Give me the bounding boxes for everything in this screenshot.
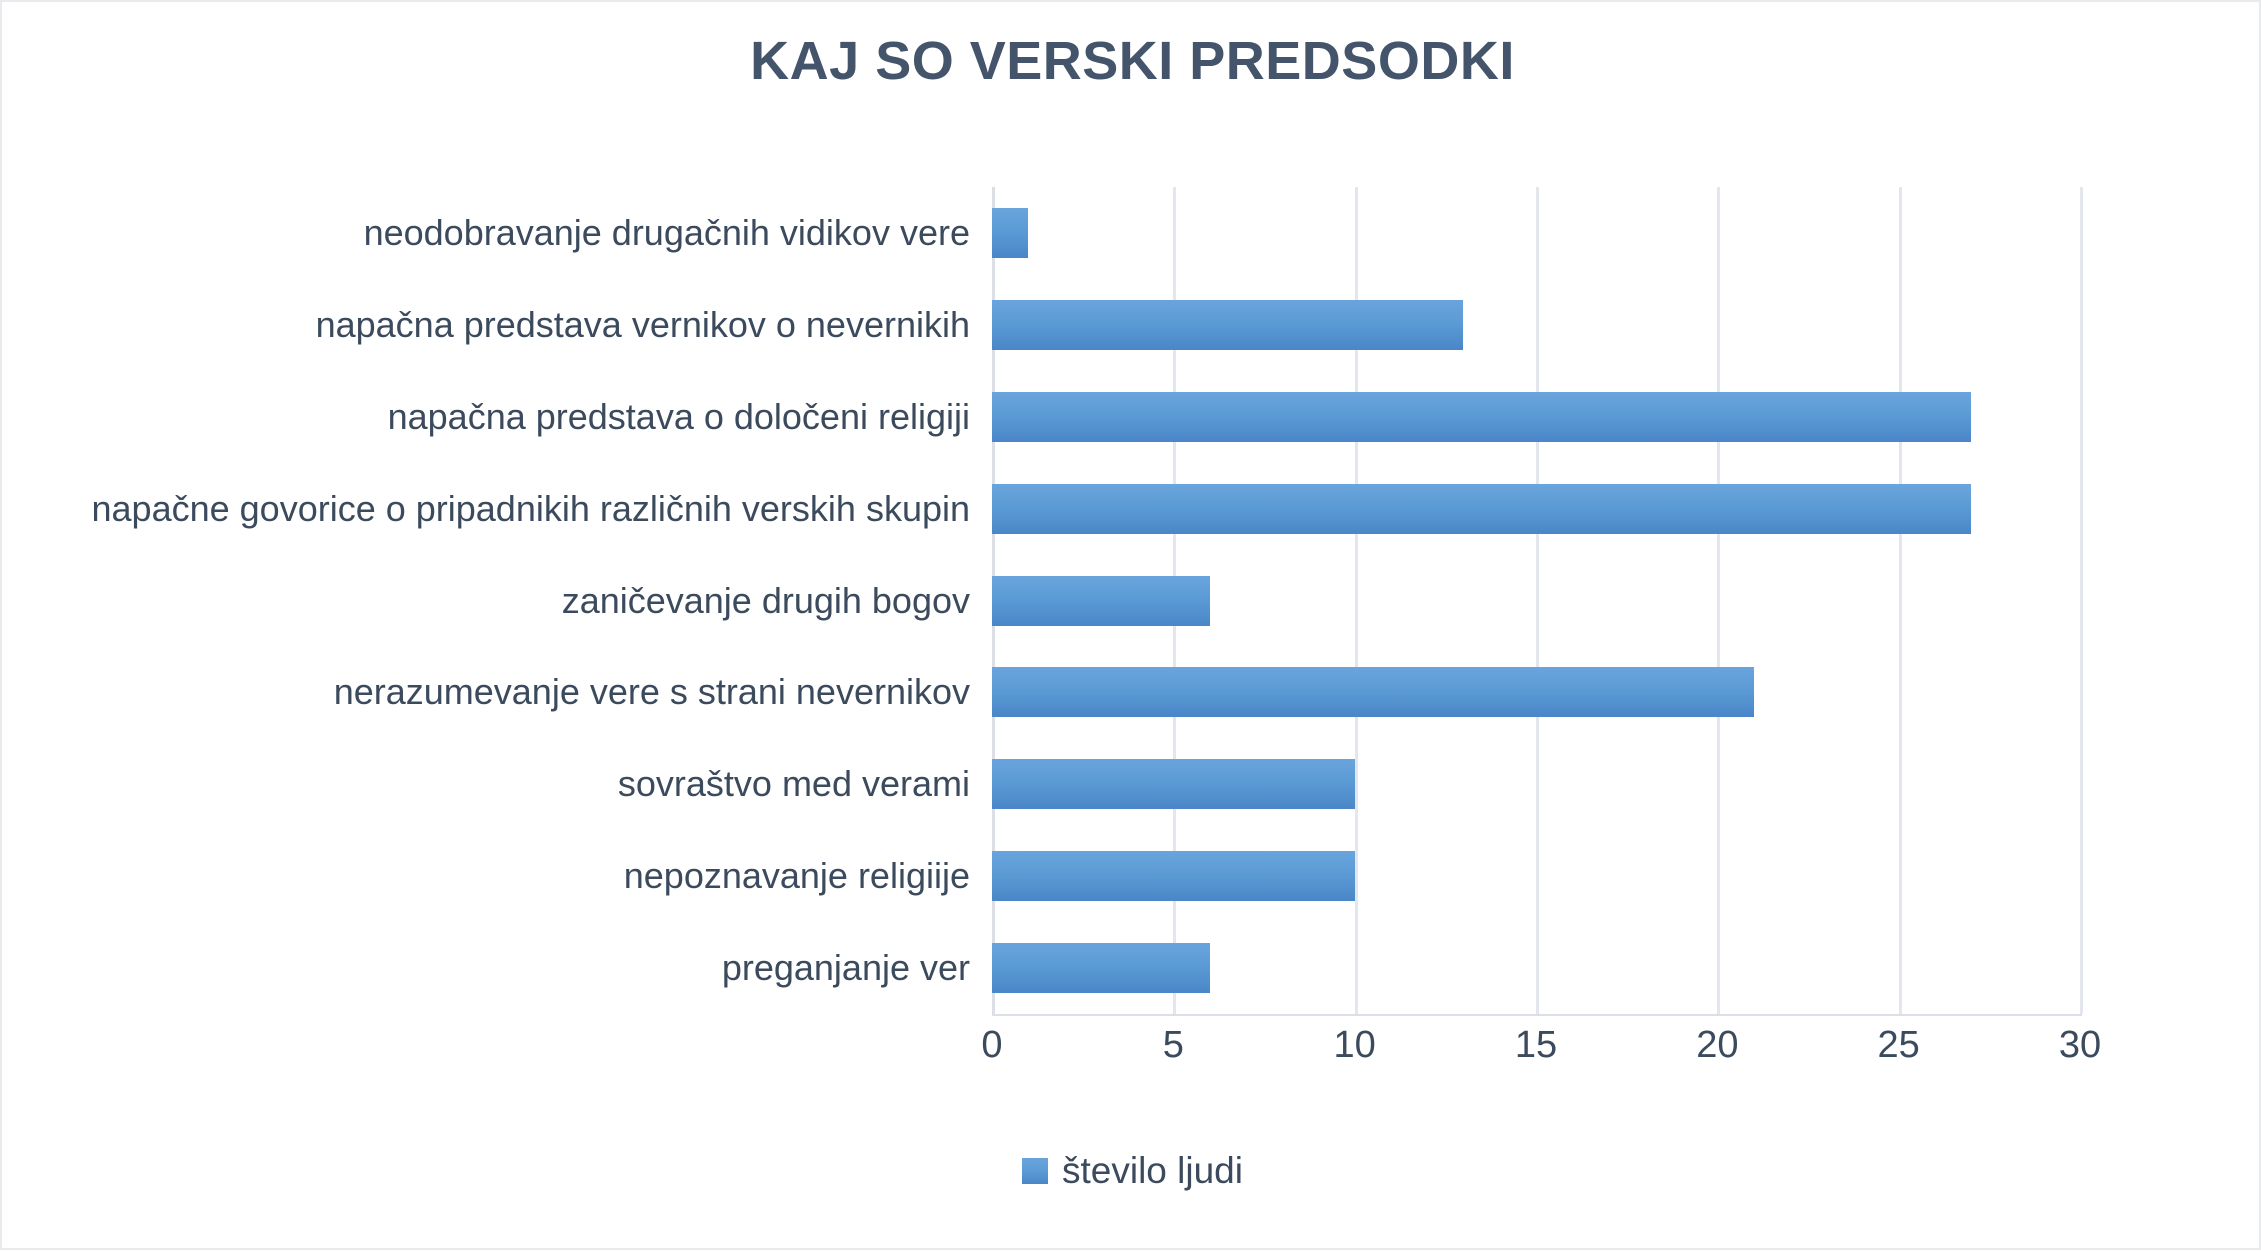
legend-swatch-icon	[1022, 1158, 1048, 1184]
bar[interactable]	[992, 484, 1971, 534]
category-label: napačna predstava vernikov o nevernikih	[316, 279, 970, 371]
category-label: napačna predstava o določeni religiji	[388, 371, 970, 463]
bar[interactable]	[992, 208, 1028, 258]
x-tick-label: 10	[1295, 1024, 1415, 1067]
bar-track	[992, 187, 2080, 279]
plot-area: neodobravanje drugačnih vidikov verenapa…	[2, 2, 2261, 1252]
bar-track	[992, 279, 2080, 371]
x-tick-label: 25	[1839, 1024, 1959, 1067]
x-tick-label: 5	[1113, 1024, 1233, 1067]
category-label: zaničevanje drugih bogov	[562, 555, 970, 647]
bar[interactable]	[992, 759, 1355, 809]
bar-track	[992, 371, 2080, 463]
bar[interactable]	[992, 667, 1754, 717]
x-tick-label: 15	[1476, 1024, 1596, 1067]
category-label: neodobravanje drugačnih vidikov vere	[364, 187, 970, 279]
bar-row: nerazumevanje vere s strani nevernikov	[2, 646, 2261, 738]
bar[interactable]	[992, 943, 1210, 993]
bar-track	[992, 463, 2080, 555]
bar-track	[992, 646, 2080, 738]
bar-row: sovraštvo med verami	[2, 738, 2261, 830]
bar-track	[992, 738, 2080, 830]
bar-row: napačna predstava vernikov o nevernikih	[2, 279, 2261, 371]
bar[interactable]	[992, 300, 1463, 350]
x-tick-label: 0	[932, 1024, 1052, 1067]
category-label: nepoznavanje religiije	[624, 830, 970, 922]
chart-frame: KAJ SO VERSKI PREDSODKI neodobravanje dr…	[0, 0, 2261, 1250]
x-axis-line	[992, 1014, 2082, 1016]
bar-row: nepoznavanje religiije	[2, 830, 2261, 922]
bar-track	[992, 555, 2080, 647]
x-axis-ticks: 051015202530	[992, 1024, 2080, 1084]
bar-row: preganjanje ver	[2, 922, 2261, 1014]
bar-rows: neodobravanje drugačnih vidikov verenapa…	[2, 187, 2261, 1014]
legend-item[interactable]: število ljudi	[1022, 1150, 1243, 1192]
bar-row: zaničevanje drugih bogov	[2, 555, 2261, 647]
bar-row: napačne govorice o pripadnikih različnih…	[2, 463, 2261, 555]
chart-legend: število ljudi	[2, 1150, 2261, 1192]
bar-track	[992, 922, 2080, 1014]
category-label: napačne govorice o pripadnikih različnih…	[92, 463, 970, 555]
x-tick-label: 20	[1657, 1024, 1777, 1067]
bar-track	[992, 830, 2080, 922]
bar[interactable]	[992, 576, 1210, 626]
bar[interactable]	[992, 392, 1971, 442]
category-label: nerazumevanje vere s strani nevernikov	[334, 646, 970, 738]
legend-label: število ljudi	[1062, 1150, 1243, 1192]
bar[interactable]	[992, 851, 1355, 901]
x-tick-label: 30	[2020, 1024, 2140, 1067]
bar-row: neodobravanje drugačnih vidikov vere	[2, 187, 2261, 279]
category-label: preganjanje ver	[722, 922, 970, 1014]
category-label: sovraštvo med verami	[618, 738, 970, 830]
bar-row: napačna predstava o določeni religiji	[2, 371, 2261, 463]
